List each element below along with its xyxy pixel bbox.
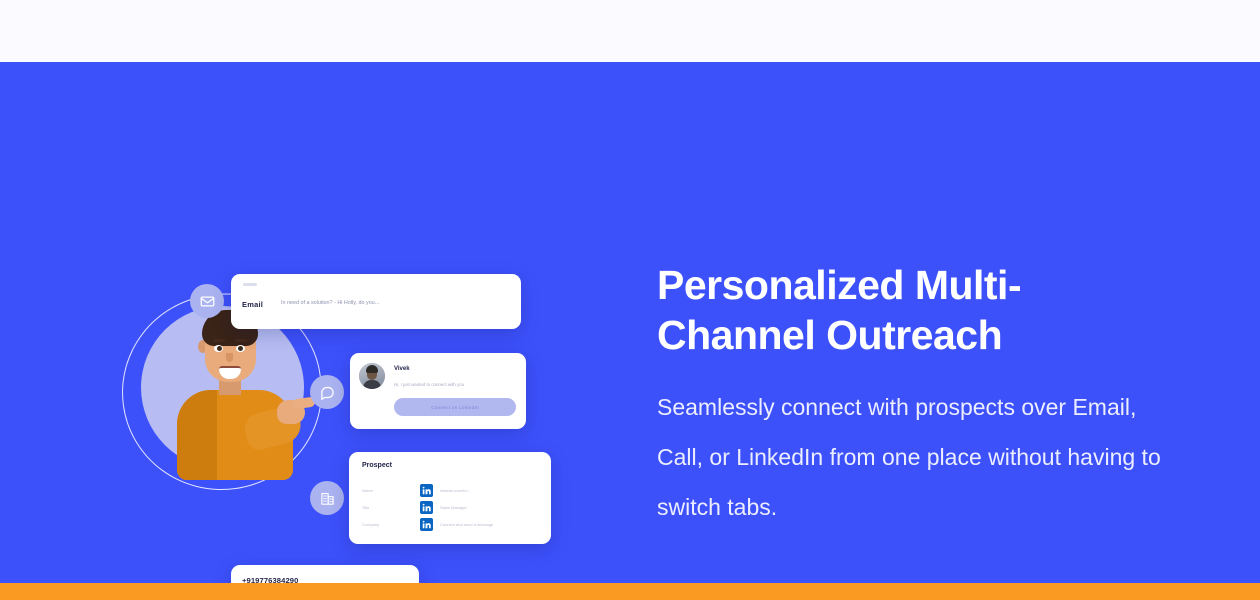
page-title: Personalized Multi-Channel Outreach [657, 260, 1177, 360]
chat-badge[interactable] [310, 375, 344, 409]
prospect-row-value: Connect and send a message [440, 522, 493, 527]
speech-bubble-icon [320, 385, 335, 400]
person-eyebrow-right [235, 339, 247, 342]
prospect-row-key: Title [362, 505, 369, 510]
person-eyebrow-left [213, 339, 225, 342]
envelope-icon [200, 294, 215, 309]
landing-page-screen: Email In need of a solution? - Hi Holly,… [0, 0, 1260, 600]
person-illustration [141, 306, 321, 476]
hero-subcopy: Seamlessly connect with prospects over E… [657, 382, 1162, 532]
person-nose [226, 353, 233, 362]
bottom-orange-strip [0, 583, 1260, 600]
email-badge[interactable] [190, 284, 224, 318]
email-card-snippet: In need of a solution? - Hi Holly, do yo… [281, 300, 379, 306]
person-pupil-left [217, 346, 222, 351]
illustration-area: Email In need of a solution? - Hi Holly,… [0, 124, 620, 600]
email-card[interactable]: Email In need of a solution? - Hi Holly,… [231, 274, 521, 329]
email-card-placeholder-bar [243, 283, 257, 286]
table-row[interactable]: Title Sales Manager [362, 501, 540, 515]
hero-copy: Personalized Multi-Channel Outreach Seam… [657, 260, 1177, 532]
organization-badge[interactable] [310, 481, 344, 515]
person-pupil-right [238, 346, 243, 351]
voice-card-cta-button[interactable]: Connect on LinkedIn [394, 398, 516, 416]
voice-message-card[interactable]: Vivek Hi, I just wanted to connect with … [350, 353, 526, 429]
avatar-hair [366, 365, 378, 373]
avatar [359, 363, 385, 389]
table-row[interactable]: Company Connect and send a message [362, 518, 540, 532]
voice-card-cta-label: Connect on LinkedIn [431, 405, 479, 410]
hero-section: Email In need of a solution? - Hi Holly,… [0, 62, 1260, 583]
avatar-body [363, 380, 381, 389]
top-white-strip [0, 0, 1260, 62]
prospect-card-title: Prospect [362, 462, 392, 469]
prospect-card[interactable]: Prospect Name linkedin.com/in/... Title [349, 452, 551, 544]
email-card-label: Email [242, 300, 263, 309]
prospect-row-value: linkedin.com/in/... [440, 488, 471, 493]
voice-card-name: Vivek [394, 366, 410, 372]
prospect-row-key: Company [362, 522, 379, 527]
linkedin-icon[interactable] [420, 518, 433, 531]
prospect-row-key: Name [362, 488, 373, 493]
voice-card-message: Hi, I just wanted to connect with you [394, 382, 464, 387]
table-row[interactable]: Name linkedin.com/in/... [362, 484, 540, 498]
linkedin-icon[interactable] [420, 484, 433, 497]
person-torso-shade [177, 390, 217, 480]
building-icon [320, 491, 335, 506]
prospect-row-value: Sales Manager [440, 505, 467, 510]
linkedin-icon[interactable] [420, 501, 433, 514]
